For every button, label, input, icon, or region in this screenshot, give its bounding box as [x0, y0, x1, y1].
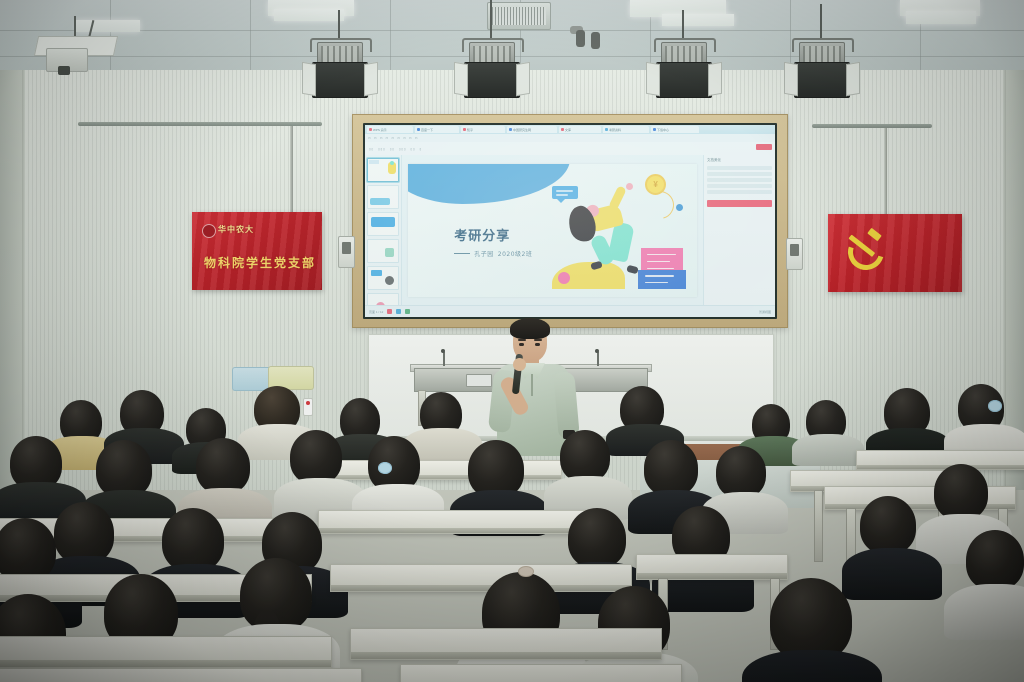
browser-tab-label: WPS 演示: [373, 128, 387, 132]
slide-subtitle-class: 2020级2班: [498, 249, 533, 258]
slide-canvas-area[interactable]: 考研分享 孔子园 2020级2班 ¥: [402, 155, 703, 306]
illustration-figure-arm: [609, 186, 628, 212]
share-button[interactable]: [756, 144, 772, 150]
university-logo-icon: [202, 224, 216, 238]
panel-row[interactable]: [707, 184, 772, 188]
menu-item[interactable]: ▭: [386, 136, 389, 140]
status-icon[interactable]: [405, 309, 410, 314]
slide-thumbnail[interactable]: [367, 239, 399, 263]
subtitle-dash-icon: [454, 253, 470, 254]
wall-speaker-panel: [338, 236, 355, 268]
student-head: [716, 446, 766, 498]
slide-thumbnail-pane[interactable]: [365, 155, 402, 306]
desk-row: [400, 664, 682, 682]
communist-party-flag: [828, 214, 962, 292]
curtain-rail-left: [78, 122, 322, 126]
slide-thumbnail[interactable]: [367, 266, 399, 290]
student-head: [644, 440, 698, 496]
desk-row: [0, 636, 332, 668]
illustration-figure-shoe: [627, 265, 639, 274]
ceiling-projector: [28, 16, 118, 74]
slide-illustration: ¥: [550, 169, 689, 291]
browser-tab-label: 考研资料: [609, 128, 621, 132]
ceiling-speaker: [576, 30, 585, 47]
panel-row[interactable]: [707, 166, 772, 170]
student-head: [966, 530, 1024, 590]
status-icon[interactable]: [387, 309, 392, 314]
illustration-figure-hand: [626, 183, 633, 190]
browser-tab[interactable]: 中国研究生网: [507, 126, 557, 133]
status-view-mode: 普通视图: [759, 310, 771, 314]
presenter-hair: [510, 318, 550, 339]
slide-thumbnail[interactable]: [367, 158, 399, 182]
ribbon-group[interactable]: ▯ ▯: [411, 147, 415, 151]
desk-row: [318, 510, 600, 534]
browser-tab-label: 中国研究生网: [513, 128, 531, 132]
presenter-hand: [513, 358, 526, 371]
screen-bezel: WPS 演示 百度一下 知乎 中国研究生网: [363, 123, 777, 319]
browser-tab[interactable]: 知乎: [461, 126, 505, 133]
air-conditioner-vent: [487, 2, 551, 30]
browser-tab[interactable]: 百度一下: [415, 126, 459, 133]
menu-item[interactable]: ▭: [368, 136, 371, 140]
browser-tab[interactable]: 下载中心: [651, 126, 699, 133]
menu-item[interactable]: ▭: [415, 136, 418, 140]
student-shoulders: [944, 584, 1024, 640]
illustration-chat-bubble-icon: [552, 186, 578, 199]
browser-tab-label: 百度一下: [421, 128, 433, 132]
student-head: [860, 496, 916, 554]
desk-row: [350, 628, 662, 660]
browser-tab[interactable]: WPS 演示: [367, 126, 413, 133]
panel-row[interactable]: [707, 172, 772, 176]
student-head: [560, 430, 610, 482]
ribbon-group[interactable]: ▯ ▯: [369, 147, 373, 151]
student-head: [290, 430, 342, 484]
menu-item[interactable]: ▭: [409, 136, 412, 140]
panel-row[interactable]: [707, 190, 772, 194]
desk-row: [330, 564, 632, 592]
slide-title: 考研分享: [454, 225, 510, 244]
projector-lens-icon: [58, 66, 70, 75]
browser-tab-strip[interactable]: WPS 演示 百度一下 知乎 中国研究生网: [365, 125, 775, 134]
curtain-rail-right: [812, 124, 932, 128]
menu-item[interactable]: ▭: [374, 136, 377, 140]
student-head: [162, 508, 224, 572]
student-head: [54, 502, 114, 564]
wall-speaker-panel: [786, 238, 803, 270]
student-shoulders: [792, 434, 864, 466]
menu-item[interactable]: ▭: [380, 136, 383, 140]
projection-screen-frame: WPS 演示 百度一下 知乎 中国研究生网: [352, 114, 788, 328]
menu-item[interactable]: ▭: [397, 136, 400, 140]
banner-main-text: 物科院学生党支部: [204, 254, 316, 271]
ribbon-group[interactable]: ▯ ▯ ▯: [378, 147, 385, 151]
document-beautify-panel[interactable]: 文档美化: [703, 155, 775, 306]
slide-thumbnail[interactable]: [367, 185, 399, 209]
illustration-blue-card: [638, 270, 685, 290]
panel-action-button[interactable]: [707, 200, 772, 207]
menu-item[interactable]: ▭: [391, 136, 394, 140]
audience-area: NB: [0, 378, 1024, 682]
desk-row: [856, 450, 1024, 470]
browser-tab[interactable]: 考研资料: [603, 126, 649, 133]
ceiling-light-panel: [662, 14, 734, 26]
slide-subtitle: 孔子园 2020级2班: [454, 249, 532, 258]
ribbon-group[interactable]: ▯ ▯: [390, 147, 394, 151]
status-page-indicator: 页面 1 / 12: [369, 310, 383, 314]
student-head: [568, 508, 626, 568]
lecture-hall-photo: WPS 演示 百度一下 知乎 中国研究生网: [0, 0, 1024, 682]
ceiling-light-panel: [906, 11, 976, 24]
ribbon-group[interactable]: ▯ ▯ ▯: [399, 147, 406, 151]
student-head: [934, 464, 988, 520]
panel-heading: 文档美化: [707, 158, 772, 163]
ribbon-group[interactable]: ▯: [420, 147, 422, 151]
slide-subtitle-name: 孔子园: [474, 249, 494, 258]
desk-row: [0, 668, 362, 682]
student-head: [0, 518, 56, 582]
browser-tab[interactable]: 文库: [559, 126, 601, 133]
student-shoulders: [842, 548, 942, 600]
panel-row[interactable]: [707, 178, 772, 182]
slide-decor-blue-shape: [408, 164, 570, 204]
status-icon[interactable]: [396, 309, 401, 314]
student-party-branch-banner: 华中农大 物科院学生党支部: [192, 212, 322, 290]
app-ribbon[interactable]: ▯ ▯ ▯ ▯ ▯ ▯ ▯ ▯ ▯ ▯ ▯ ▯ ▯: [365, 142, 775, 156]
projected-desktop[interactable]: WPS 演示 百度一下 知乎 中国研究生网: [365, 125, 775, 317]
ceiling-speaker: [591, 32, 600, 49]
browser-tab-label: 知乎: [467, 128, 473, 132]
current-slide[interactable]: 考研分享 孔子园 2020级2班 ¥: [408, 164, 697, 297]
student-head: [196, 438, 250, 494]
browser-tab-label: 文库: [565, 128, 571, 132]
browser-tab-label: 下载中心: [657, 128, 669, 132]
slide-thumbnail[interactable]: [367, 212, 399, 236]
ceiling-light-panel: [274, 9, 344, 21]
desk-row: [636, 554, 788, 580]
menu-item[interactable]: ▭: [403, 136, 406, 140]
student-shoulders: [742, 650, 882, 682]
app-status-bar[interactable]: 页面 1 / 12 普通视图: [365, 305, 775, 317]
illustration-dot: [676, 204, 683, 211]
hammer-and-sickle-icon: [846, 230, 886, 274]
banner-university-name: 华中农大: [218, 224, 254, 235]
